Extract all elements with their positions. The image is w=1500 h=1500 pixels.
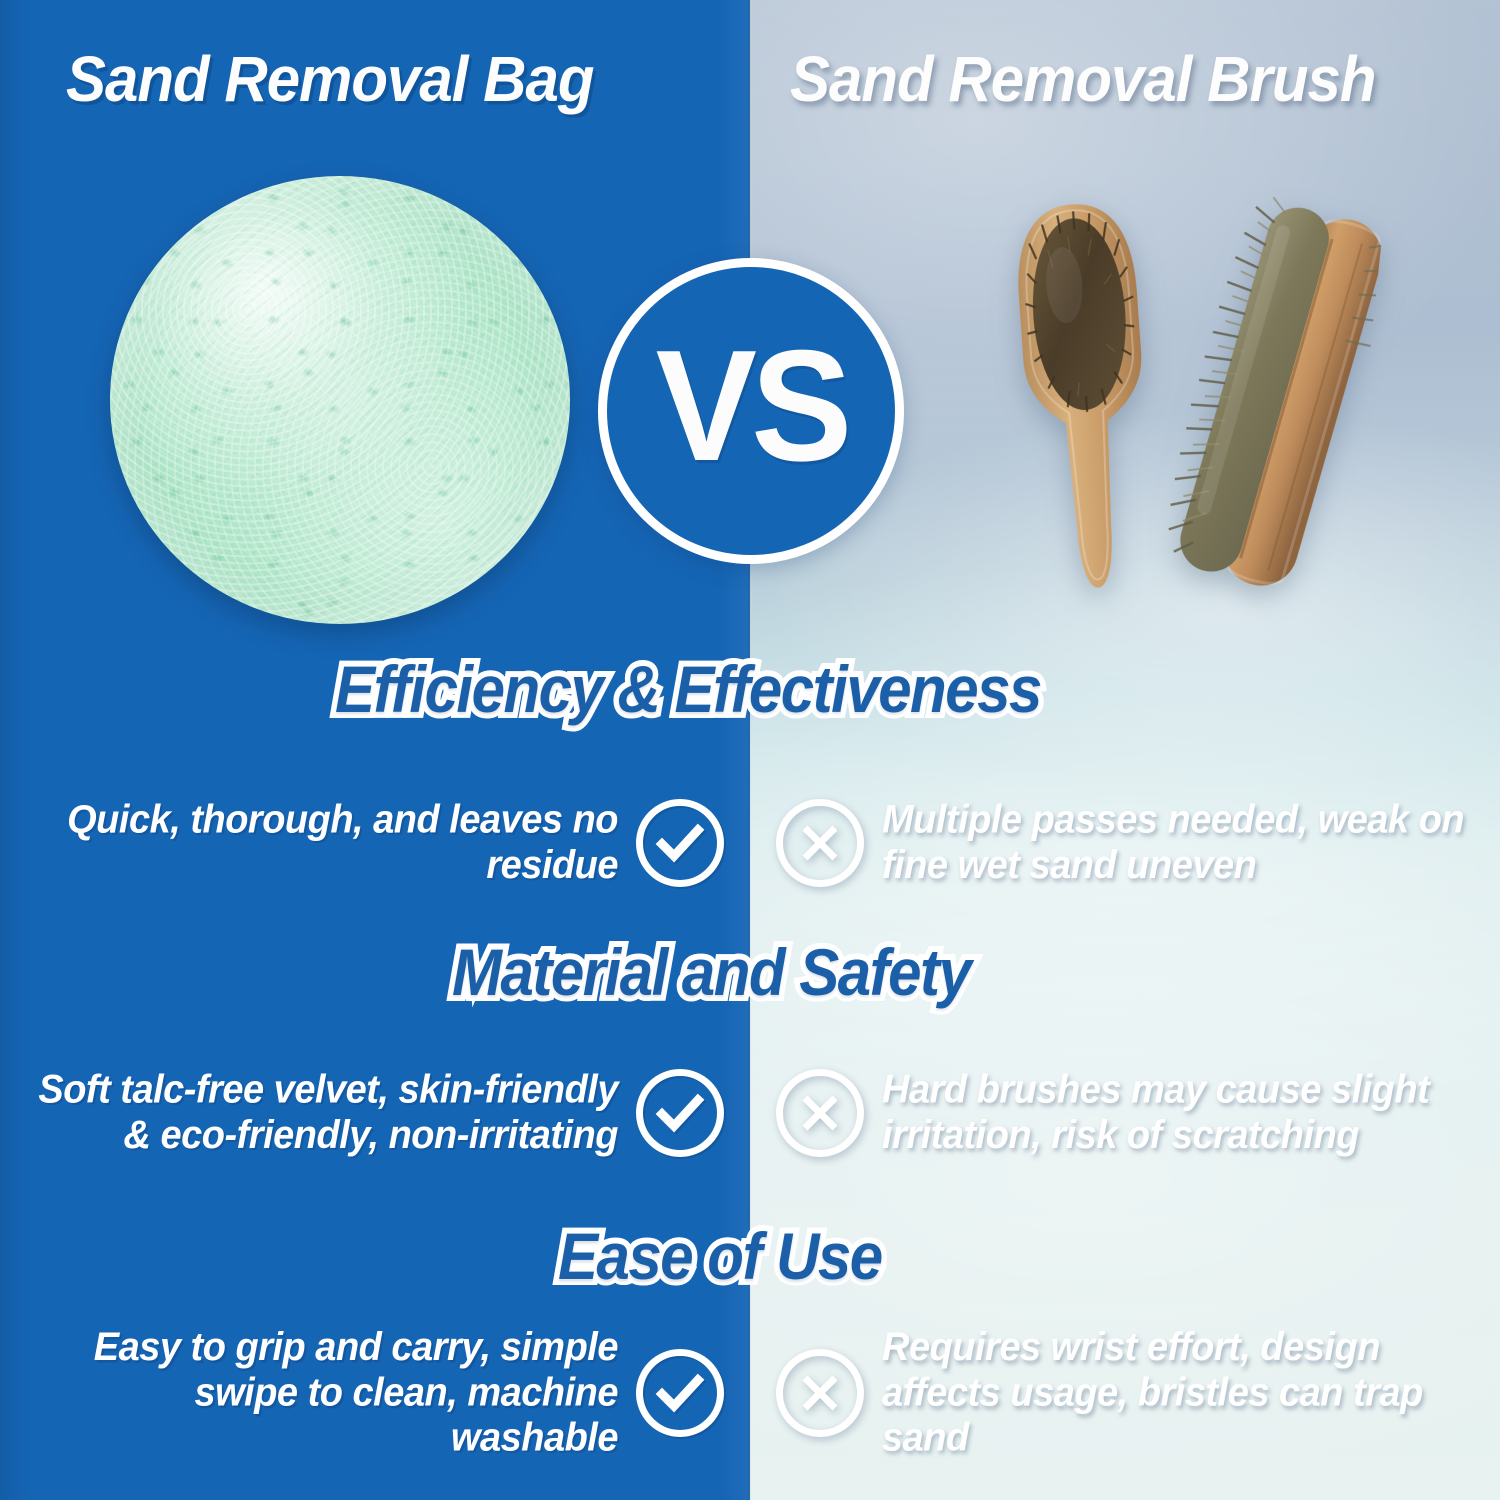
sand-removal-bag-image <box>110 176 570 624</box>
check-circle-icon <box>636 1349 724 1437</box>
con-cell-ease: Requires wrist effort, design affects us… <box>750 1328 1500 1458</box>
x-circle-icon <box>776 1349 864 1437</box>
sand-removal-brush-small-image <box>996 191 1174 600</box>
vs-label: VS <box>656 315 847 497</box>
con-text-ease: Requires wrist effort, design affects us… <box>882 1325 1482 1460</box>
left-product-title: Sand Removal Bag <box>66 43 594 116</box>
pro-cell-material: Soft talc-free velvet, skin-friendly & e… <box>0 1048 750 1178</box>
check-circle-icon <box>636 1069 724 1157</box>
comparison-row-material: Soft talc-free velvet, skin-friendly & e… <box>0 1048 1500 1178</box>
con-text-material: Hard brushes may cause slight irritation… <box>882 1068 1482 1158</box>
pro-cell-ease: Easy to grip and carry, simple swipe to … <box>0 1328 750 1458</box>
con-cell-material: Hard brushes may cause slight irritation… <box>750 1048 1500 1178</box>
comparison-row-efficiency: Quick, thorough, and leaves no residue M… <box>0 778 1500 908</box>
comparison-row-ease: Easy to grip and carry, simple swipe to … <box>0 1328 1500 1458</box>
pro-text-material: Soft talc-free velvet, skin-friendly & e… <box>18 1068 618 1158</box>
x-circle-icon <box>776 1069 864 1157</box>
pro-text-efficiency: Quick, thorough, and leaves no residue <box>58 798 618 888</box>
section-heading-material: Material and Safety <box>452 935 970 1011</box>
pro-cell-efficiency: Quick, thorough, and leaves no residue <box>0 778 750 908</box>
comparison-infographic: Sand Removal Bag Sand Removal Brush <box>0 0 1500 1500</box>
vs-badge: VS <box>598 258 904 564</box>
con-text-efficiency: Multiple passes needed, weak on fine wet… <box>882 798 1482 888</box>
section-heading-efficiency: Efficiency & Effectiveness <box>335 652 1041 728</box>
pro-text-ease: Easy to grip and carry, simple swipe to … <box>18 1325 618 1460</box>
check-circle-icon <box>636 799 724 887</box>
x-circle-icon <box>776 799 864 887</box>
bag-fuzz-texture <box>110 176 570 624</box>
right-product-title: Sand Removal Brush <box>790 43 1376 116</box>
section-heading-ease: Ease of Use <box>558 1219 882 1295</box>
con-cell-efficiency: Multiple passes needed, weak on fine wet… <box>750 778 1500 908</box>
